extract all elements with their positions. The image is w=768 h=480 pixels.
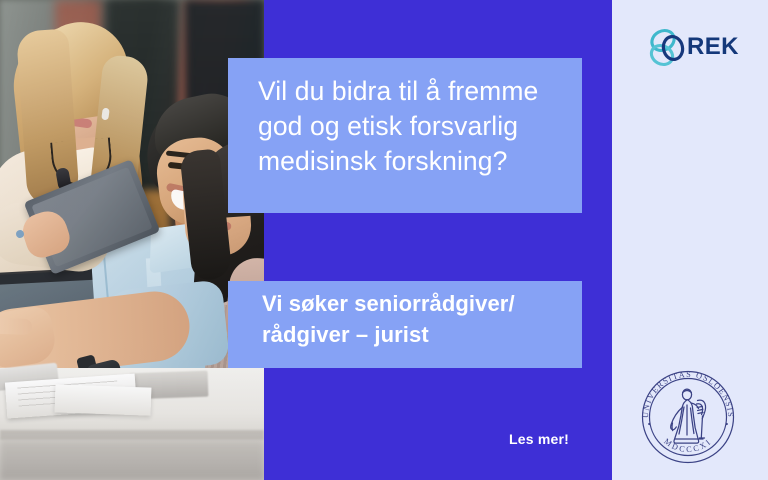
subheadline-line-2: rådgiver – jurist bbox=[262, 319, 574, 350]
uio-seal-icon: UNIVERSITAS OSLOENSIS MDCCCXI bbox=[634, 363, 742, 471]
uio-seal: UNIVERSITAS OSLOENSIS MDCCCXI bbox=[634, 363, 742, 471]
uio-seal-top-text: UNIVERSITAS OSLOENSIS bbox=[641, 370, 735, 418]
photo-color-tone-overlay bbox=[0, 0, 264, 480]
headline-text: Vil du bidra til å fremme god og etisk f… bbox=[258, 74, 564, 179]
read-more-link[interactable]: Les mer! bbox=[509, 431, 569, 447]
rek-logo[interactable]: REK bbox=[648, 27, 740, 69]
headline-line-2: god og etisk forsvarlig bbox=[258, 109, 564, 144]
banner-root: Vil du bidra til å fremme god og etisk f… bbox=[0, 0, 768, 480]
subheadline-text: Vi søker seniorrådgiver/ rådgiver – juri… bbox=[262, 288, 574, 350]
svg-text:UNIVERSITAS OSLOENSIS: UNIVERSITAS OSLOENSIS bbox=[641, 370, 735, 418]
headline-line-1: Vil du bidra til å fremme bbox=[258, 74, 564, 109]
headline-line-3: medisinsk forskning? bbox=[258, 144, 564, 179]
rek-wordmark: REK bbox=[687, 33, 739, 61]
rek-interlocking-rings-icon bbox=[648, 27, 688, 69]
subheadline-line-1: Vi søker seniorrådgiver/ bbox=[262, 288, 574, 319]
team-photo bbox=[0, 0, 264, 480]
